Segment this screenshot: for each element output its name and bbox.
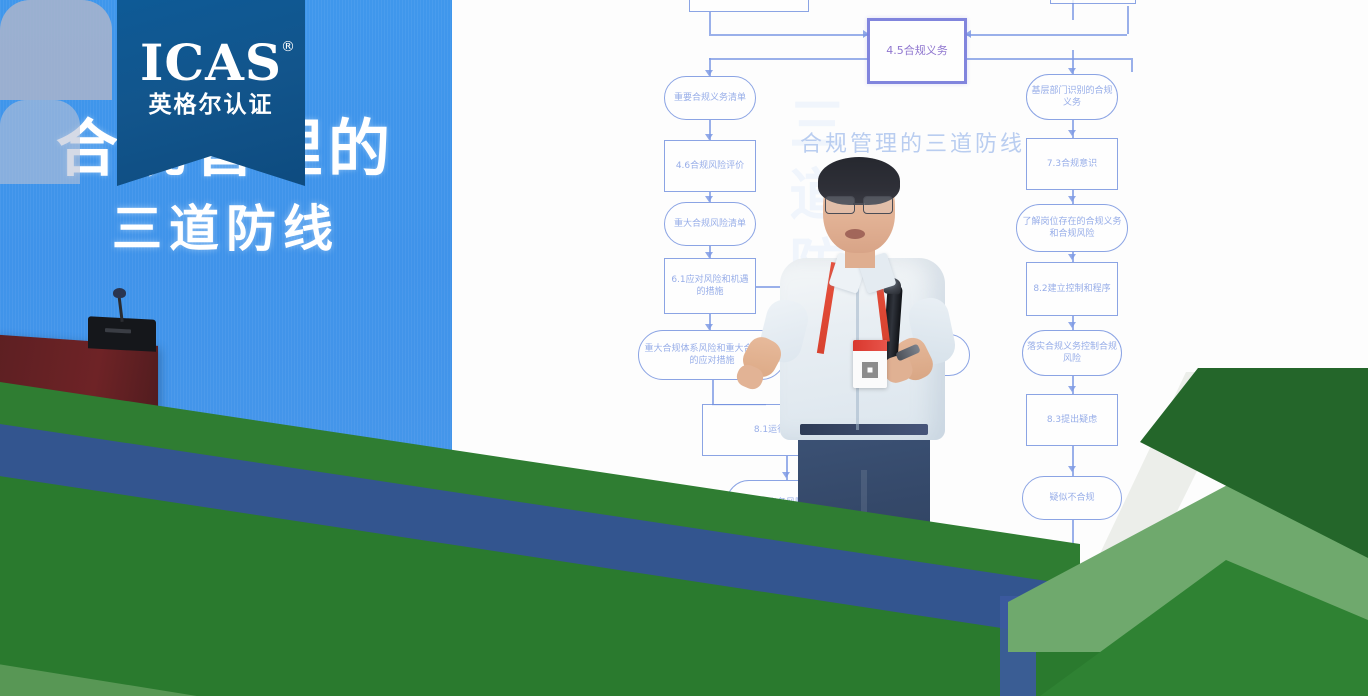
flowchart-node-label: 6.1应对风险和机遇的措施 (669, 274, 751, 298)
flowchart-node-n_l1: 重要合规义务清单 (664, 76, 756, 120)
conference-badge (853, 340, 887, 388)
audience-shoulders (0, 0, 112, 100)
flowchart-node-n_r6: 8.3提出疑虑 (1026, 394, 1118, 446)
qr-code-icon (862, 362, 878, 378)
connector (712, 380, 714, 404)
connector (967, 34, 1127, 36)
flowchart-node-n_top_mid (1050, 0, 1136, 4)
connector (709, 34, 869, 36)
connector (1131, 58, 1133, 72)
connector (967, 58, 1131, 60)
flowchart-node-n_l4: 6.1应对风险和机遇的措施 (664, 258, 756, 314)
flowchart-node-n_r5: 落实合规义务控制合规风险 (1022, 330, 1122, 376)
led-wall-headline-line2: 三道防线 (0, 204, 452, 254)
flowchart-node-label: 4.6合规风险评价 (676, 160, 744, 172)
logo-content: ICAS ® 英格尔认证 (117, 38, 305, 117)
audience-shoulders (0, 100, 80, 184)
flowchart-node-label: 落实合规义务控制合规风险 (1027, 341, 1117, 365)
flowchart-node-n_r4: 8.2建立控制和程序 (1026, 262, 1118, 316)
registered-trademark-icon: ® (281, 40, 296, 54)
podium-microphone-icon (113, 288, 126, 298)
connector (709, 58, 869, 60)
flowchart-node-label: 基层部门识别的合规义务 (1031, 85, 1113, 109)
slide-title: 合规管理的三道防线 (800, 126, 1025, 158)
flowchart-node-n_l3: 重大合规风险清单 (664, 202, 756, 246)
flowchart-node-label: 8.2建立控制和程序 (1033, 283, 1110, 295)
flowchart-node-label: 4.5合规义务 (886, 44, 948, 59)
presentation-photo-stage: 三道防线 (0, 0, 1368, 696)
speaker-belt (800, 424, 928, 435)
flowchart-node-n_r2: 7.3合规意识 (1026, 138, 1118, 190)
flowchart-node-n_l2: 4.6合规风险评价 (664, 140, 756, 192)
connector (709, 12, 711, 34)
flowchart-node-n_r3: 了解岗位存在的合规义务和合规风险 (1016, 204, 1128, 252)
badge-header-strip (853, 340, 887, 351)
eyeglasses-icon (824, 196, 894, 213)
icas-wordmark-text: ICAS (140, 33, 282, 92)
connector (1127, 6, 1129, 34)
arrow-icon (1068, 130, 1076, 136)
flowchart-node-label: 重要合规义务清单 (674, 92, 746, 104)
flowchart-node-n_45: 4.5合规义务 (867, 18, 967, 84)
arrow-icon (1068, 196, 1076, 202)
arrow-icon (1068, 254, 1076, 260)
flowchart-node-n_r1: 基层部门识别的合规义务 (1026, 74, 1118, 120)
arrow-icon (1068, 322, 1076, 328)
icas-wordmark: ICAS ® (140, 38, 282, 88)
arrow-icon (1068, 386, 1076, 392)
flowchart-node-n_top_left (689, 0, 809, 12)
flowchart-node-label: 7.3合规意识 (1047, 158, 1097, 170)
flowchart-node-n_r7: 疑似不合规 (1022, 476, 1122, 520)
flowchart-node-label: 疑似不合规 (1049, 492, 1094, 504)
arrow-icon (1068, 466, 1076, 472)
flowchart-node-label: 重大合规风险清单 (674, 218, 746, 230)
flowchart-node-label: 了解岗位存在的合规义务和合规风险 (1021, 216, 1123, 240)
arrow-icon (782, 472, 790, 478)
flowchart-node-label: 8.3提出疑虑 (1047, 414, 1097, 426)
speaker-mouth (845, 229, 865, 239)
connector (1072, 520, 1074, 546)
icas-chinese-name: 英格尔认证 (117, 94, 305, 117)
